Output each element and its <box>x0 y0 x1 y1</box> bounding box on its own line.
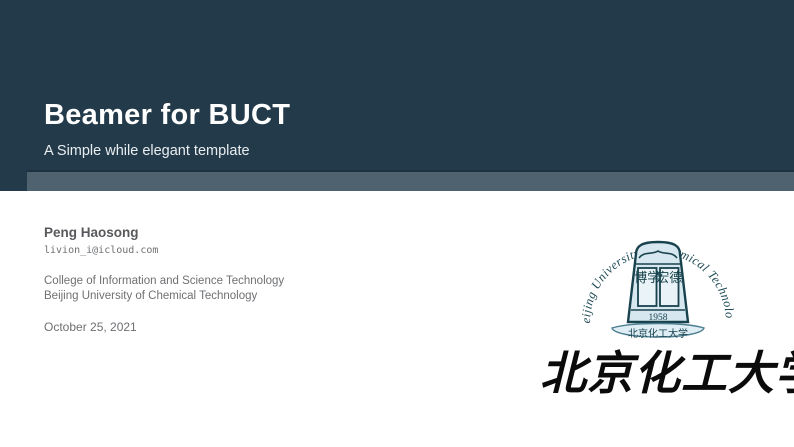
university-wordmark-text: 北京化工大学 <box>540 346 794 400</box>
presentation-title-slide: Beamer for BUCT A Simple while elegant t… <box>0 0 794 447</box>
accent-bar <box>27 172 794 191</box>
seal-motto-char-2: 宏德 <box>656 271 682 286</box>
presentation-date: October 25, 2021 <box>44 320 464 334</box>
author-name: Peng Haosong <box>44 224 464 241</box>
seal-ribbon-text: 北京化工大学 <box>628 327 688 340</box>
university-seal-icon: Beijing University of Chemical Technolog… <box>572 218 744 350</box>
seal-year: 1958 <box>649 313 668 323</box>
affiliation-block: College of Information and Science Techn… <box>44 274 464 303</box>
university-wordmark: 北京化工大学 <box>540 344 794 406</box>
author-email: livion_i@icloud.com <box>44 243 464 259</box>
affiliation-line-2: Beijing University of Chemical Technolog… <box>44 289 464 304</box>
university-logo: Beijing University of Chemical Technolog… <box>540 218 794 418</box>
author-block: Peng Haosong livion_i@icloud.com College… <box>44 224 464 334</box>
affiliation-line-1: College of Information and Science Techn… <box>44 274 464 289</box>
page-subtitle: A Simple while elegant template <box>44 143 250 159</box>
title-band: Beamer for BUCT A Simple while elegant t… <box>0 0 794 191</box>
page-title: Beamer for BUCT <box>44 99 290 132</box>
